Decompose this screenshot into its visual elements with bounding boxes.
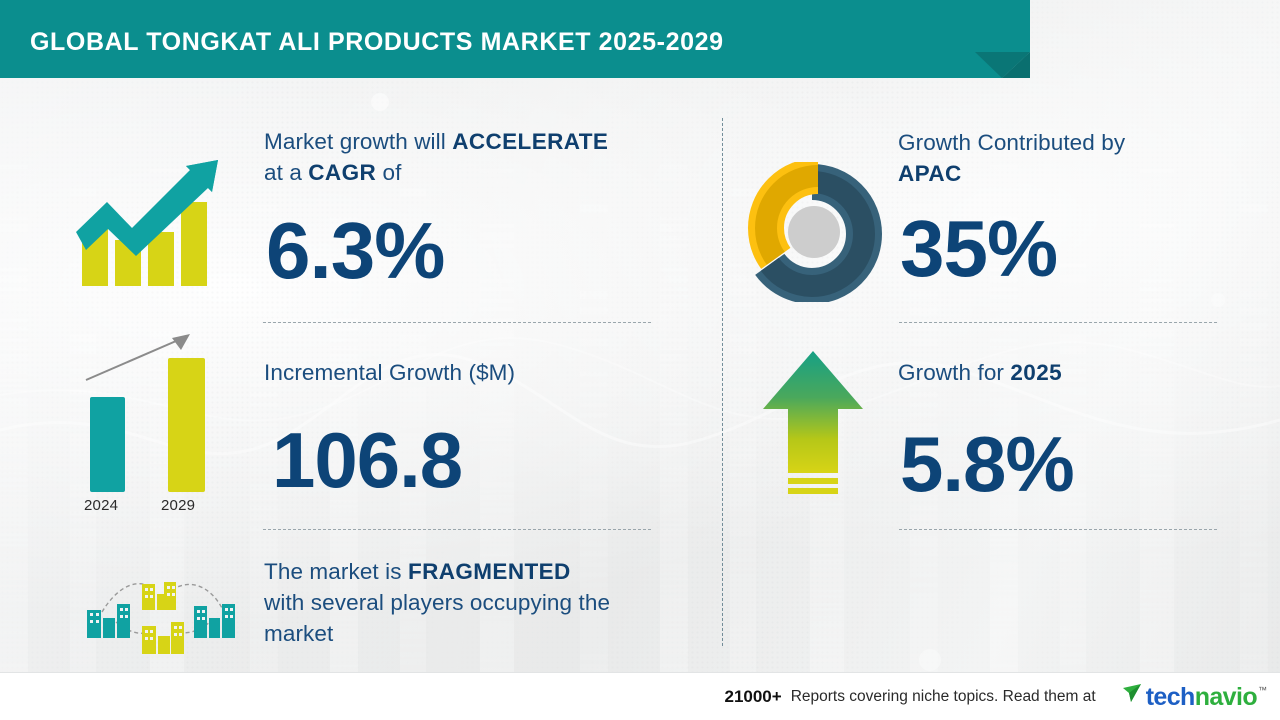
apac-region: APAC	[898, 161, 962, 186]
fragmentation-line1-strong: FRAGMENTED	[408, 559, 571, 584]
footer-tagline: Reports covering niche topics. Read them…	[791, 688, 1096, 706]
apac-statement: Growth Contributed by APAC	[898, 127, 1228, 189]
cagr-line2-prefix: at a	[264, 160, 308, 185]
cagr-statement: Market growth will ACCELERATE at a CAGR …	[264, 126, 684, 188]
city-network-icon	[72, 560, 247, 660]
growth-chart-icon	[70, 140, 240, 300]
apac-line1: Growth Contributed by	[898, 130, 1125, 155]
incremental-growth-label: Incremental Growth ($M)	[264, 357, 684, 388]
growth-2025-year: 2025	[1010, 360, 1062, 385]
incremental-growth-value: 106.8	[272, 421, 462, 499]
cagr-value: 6.3%	[266, 211, 444, 291]
divider-left-1	[263, 322, 651, 323]
divider-right-1	[899, 322, 1217, 323]
divider-left-2	[263, 529, 651, 530]
cagr-line1-prefix: Market growth will	[264, 129, 452, 154]
technavio-arrow-icon	[1122, 681, 1144, 705]
page-title: GLOBAL TONGKAT ALI PRODUCTS MARKET 2025-…	[30, 28, 724, 57]
fragmentation-line2: with several players occupying the	[264, 590, 610, 615]
growth-2025-label: Growth for 2025	[898, 357, 1228, 388]
cagr-line2-strong: CAGR	[308, 160, 376, 185]
divider-right-2	[899, 529, 1217, 530]
header-banner: GLOBAL TONGKAT ALI PRODUCTS MARKET 2025-…	[0, 0, 1030, 78]
fragmentation-statement: The market is FRAGMENTED with several pl…	[264, 556, 694, 649]
up-arrow-icon	[758, 345, 868, 510]
fragmentation-line1-prefix: The market is	[264, 559, 408, 584]
fragmentation-line3: market	[264, 621, 333, 646]
growth-2025-prefix: Growth for	[898, 360, 1010, 385]
logo-text-tech: tech	[1146, 683, 1195, 712]
cagr-line2-suffix: of	[376, 160, 401, 185]
logo-trademark: ™	[1258, 685, 1267, 695]
technavio-logo[interactable]: technavio™	[1122, 681, 1266, 712]
logo-text-navio: navio	[1195, 683, 1257, 712]
donut-chart-icon	[744, 162, 884, 302]
bar-label-2029: 2029	[161, 497, 195, 514]
infographic-page: GLOBAL TONGKAT ALI PRODUCTS MARKET 2025-…	[0, 0, 1280, 720]
bar-label-2024: 2024	[84, 497, 118, 514]
growth-2025-value: 5.8%	[900, 425, 1074, 503]
vertical-divider	[722, 118, 723, 646]
footer-bar: 21000+ Reports covering niche topics. Re…	[0, 672, 1280, 720]
apac-value: 35%	[900, 209, 1057, 289]
bar-comparison-icon	[68, 322, 238, 517]
report-count: 21000+	[724, 687, 781, 707]
cagr-line1-strong: ACCELERATE	[452, 129, 608, 154]
